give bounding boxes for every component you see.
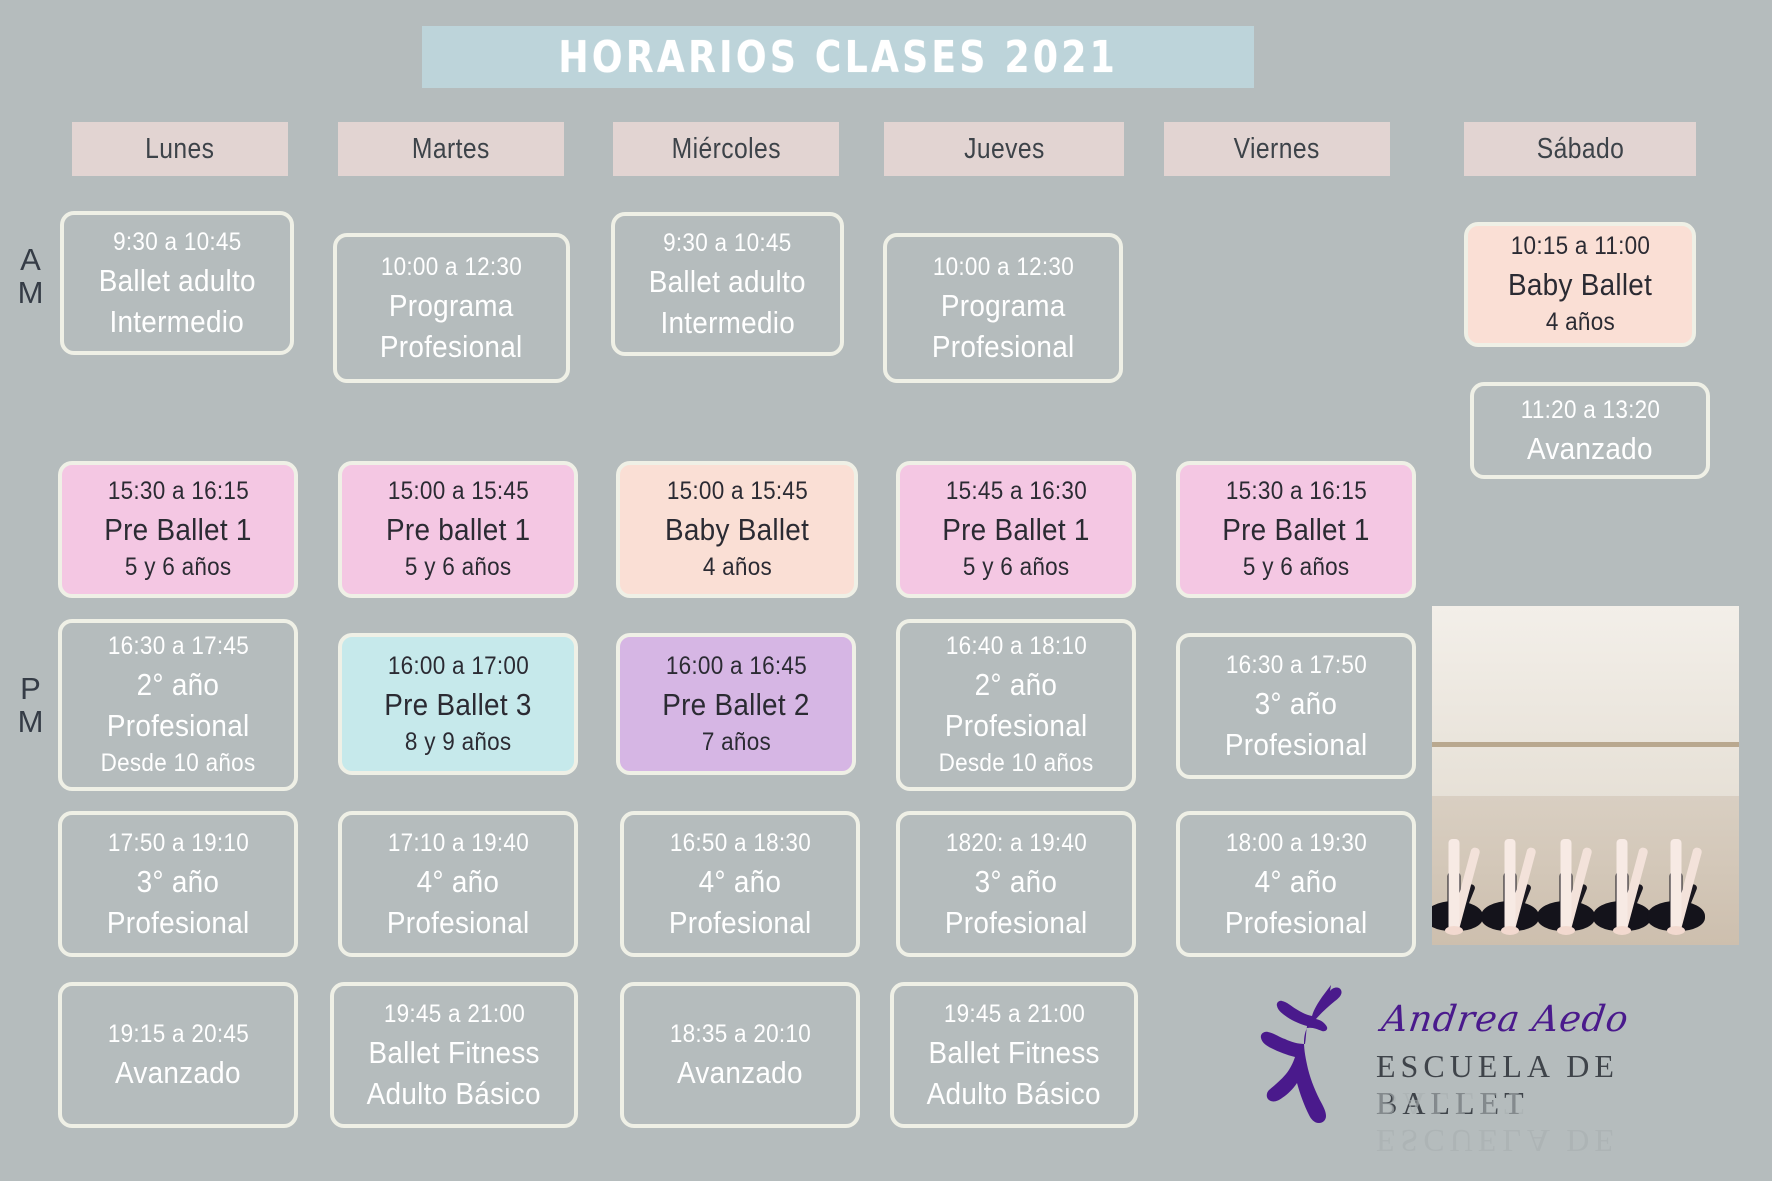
- class-title2: Profesional: [107, 705, 250, 746]
- class-card[interactable]: 16:00 a 17:00 Pre Ballet 3 8 y 9 años: [338, 633, 578, 775]
- class-card[interactable]: 18:35 a 20:10 Avanzado: [620, 982, 860, 1128]
- class-title2: Adulto Básico: [927, 1073, 1101, 1114]
- photo-wall: [1432, 606, 1739, 803]
- class-title: 3° año: [137, 861, 220, 902]
- class-card[interactable]: 19:15 a 20:45 Avanzado: [58, 982, 298, 1128]
- class-time: 16:00 a 17:00: [387, 649, 528, 684]
- class-card[interactable]: 15:30 a 16:15 Pre Ballet 1 5 y 6 años: [1176, 461, 1416, 598]
- class-card[interactable]: 16:30 a 17:45 2° año Profesional Desde 1…: [58, 619, 298, 791]
- class-time: 16:30 a 17:50: [1225, 648, 1366, 683]
- class-card[interactable]: 19:45 a 21:00 Ballet Fitness Adulto Bási…: [330, 982, 578, 1128]
- class-title: 3° año: [975, 861, 1058, 902]
- class-title2: Profesional: [945, 705, 1088, 746]
- class-title: Pre Ballet 2: [662, 684, 809, 725]
- class-card[interactable]: 10:00 a 12:30 Programa Profesional: [333, 233, 570, 383]
- class-time: 15:30 a 16:15: [1225, 474, 1366, 509]
- class-time: 16:00 a 16:45: [665, 649, 806, 684]
- class-card[interactable]: 18:00 a 19:30 4° año Profesional: [1176, 811, 1416, 957]
- class-time: 19:45 a 21:00: [383, 997, 524, 1032]
- class-time: 10:15 a 11:00: [1510, 229, 1649, 264]
- class-title: Ballet adulto: [649, 261, 806, 302]
- class-card[interactable]: 10:00 a 12:30 Programa Profesional: [883, 233, 1123, 383]
- class-title: Pre ballet 1: [386, 509, 530, 550]
- class-ages: 7 años: [701, 725, 770, 760]
- class-card[interactable]: 1820: a 19:40 3° año Profesional: [896, 811, 1136, 957]
- class-time: 18:00 a 19:30: [1225, 826, 1366, 861]
- class-title2: Adulto Básico: [367, 1073, 541, 1114]
- class-card[interactable]: 10:15 a 11:00 Baby Ballet 4 años: [1464, 222, 1696, 347]
- class-time: 16:30 a 17:45: [107, 629, 248, 664]
- class-title2: Profesional: [932, 326, 1075, 367]
- class-title: 4° año: [1255, 861, 1338, 902]
- logo-script-text: Andrea Aedo: [1379, 999, 1631, 1040]
- class-time: 15:00 a 15:45: [387, 474, 528, 509]
- class-card[interactable]: 17:10 a 19:40 4° año Profesional: [338, 811, 578, 957]
- class-time: 9:30 a 10:45: [113, 225, 241, 260]
- class-card[interactable]: 11:20 a 13:20 Avanzado: [1470, 382, 1710, 479]
- class-ages: 4 años: [1545, 305, 1614, 340]
- class-time: 19:15 a 20:45: [107, 1017, 248, 1052]
- class-title: Pre Ballet 1: [942, 509, 1089, 550]
- photo-barre: [1432, 742, 1739, 747]
- class-title: Pre Ballet 1: [1222, 509, 1369, 550]
- class-title2: Profesional: [380, 326, 523, 367]
- class-title2: Intermedio: [110, 301, 245, 342]
- logo-subtitle-reflection: ESCUELA DE BALLET: [1376, 1085, 1696, 1159]
- class-time: 10:00 a 12:30: [932, 250, 1073, 285]
- class-title: Programa: [941, 285, 1066, 326]
- class-time: 11:20 a 13:20: [1520, 393, 1659, 428]
- class-card[interactable]: 16:00 a 16:45 Pre Ballet 2 7 años: [616, 633, 856, 775]
- class-title: 4° año: [699, 861, 782, 902]
- class-title2: Profesional: [1225, 724, 1368, 765]
- class-title: 2° año: [137, 664, 220, 705]
- class-ages: Desde 10 años: [939, 746, 1094, 781]
- class-ages: 5 y 6 años: [963, 550, 1070, 585]
- class-time: 18:35 a 20:10: [669, 1017, 810, 1052]
- class-card[interactable]: 17:50 a 19:10 3° año Profesional: [58, 811, 298, 957]
- class-card[interactable]: 16:40 a 18:10 2° año Profesional Desde 1…: [896, 619, 1136, 791]
- class-title2: Intermedio: [660, 302, 795, 343]
- class-time: 16:40 a 18:10: [945, 629, 1086, 664]
- class-title: Pre Ballet 3: [384, 684, 531, 725]
- class-title: Baby Ballet: [1508, 264, 1652, 305]
- class-time: 19:45 a 21:00: [943, 997, 1084, 1032]
- class-card[interactable]: 15:00 a 15:45 Pre ballet 1 5 y 6 años: [338, 461, 578, 598]
- class-title: 4° año: [417, 861, 500, 902]
- class-title: 3° año: [1255, 683, 1338, 724]
- class-title: Ballet Fitness: [368, 1032, 539, 1073]
- class-card[interactable]: 9:30 a 10:45 Ballet adulto Intermedio: [611, 212, 844, 356]
- class-title2: Profesional: [1225, 902, 1368, 943]
- class-card[interactable]: 16:50 a 18:30 4° año Profesional: [620, 811, 860, 957]
- class-ages: 4 años: [702, 550, 771, 585]
- class-time: 17:50 a 19:10: [107, 826, 248, 861]
- class-time: 1820: a 19:40: [945, 826, 1086, 861]
- class-title: Avanzado: [1527, 428, 1653, 469]
- class-time: 16:50 a 18:30: [669, 826, 810, 861]
- class-title: Pre Ballet 1: [104, 509, 251, 550]
- class-title: Baby Ballet: [665, 509, 809, 550]
- ballerina-silhouette-icon: [1234, 985, 1358, 1140]
- class-time: 9:30 a 10:45: [663, 226, 791, 261]
- class-card[interactable]: 19:45 a 21:00 Ballet Fitness Adulto Bási…: [890, 982, 1138, 1128]
- class-time: 15:00 a 15:45: [666, 474, 807, 509]
- school-logo: Andrea Aedo ESCUELA DE BALLET ESCUELA DE…: [1234, 985, 1696, 1155]
- class-time: 15:45 a 16:30: [945, 474, 1086, 509]
- class-title2: Profesional: [107, 902, 250, 943]
- class-card[interactable]: 15:45 a 16:30 Pre Ballet 1 5 y 6 años: [896, 461, 1136, 598]
- class-time: 17:10 a 19:40: [387, 826, 528, 861]
- class-card[interactable]: 9:30 a 10:45 Ballet adulto Intermedio: [60, 211, 294, 355]
- class-ages: 5 y 6 años: [1243, 550, 1350, 585]
- class-card[interactable]: 15:30 a 16:15 Pre Ballet 1 5 y 6 años: [58, 461, 298, 598]
- class-title: 2° año: [975, 664, 1058, 705]
- class-title2: Profesional: [387, 902, 530, 943]
- class-ages: 5 y 6 años: [405, 550, 512, 585]
- class-time: 10:00 a 12:30: [381, 250, 522, 285]
- class-title: Avanzado: [115, 1052, 241, 1093]
- class-ages: 8 y 9 años: [405, 725, 512, 760]
- class-title: Avanzado: [677, 1052, 803, 1093]
- class-title: Programa: [389, 285, 514, 326]
- class-title2: Profesional: [669, 902, 812, 943]
- class-ages: Desde 10 años: [101, 746, 256, 781]
- class-time: 15:30 a 16:15: [107, 474, 248, 509]
- class-title: Ballet Fitness: [928, 1032, 1099, 1073]
- class-title2: Profesional: [945, 902, 1088, 943]
- class-card[interactable]: 16:30 a 17:50 3° año Profesional: [1176, 633, 1416, 779]
- class-card[interactable]: 15:00 a 15:45 Baby Ballet 4 años: [616, 461, 858, 598]
- ballet-dancers-photo: [1432, 606, 1739, 945]
- class-title: Ballet adulto: [98, 260, 255, 301]
- class-ages: 5 y 6 años: [125, 550, 232, 585]
